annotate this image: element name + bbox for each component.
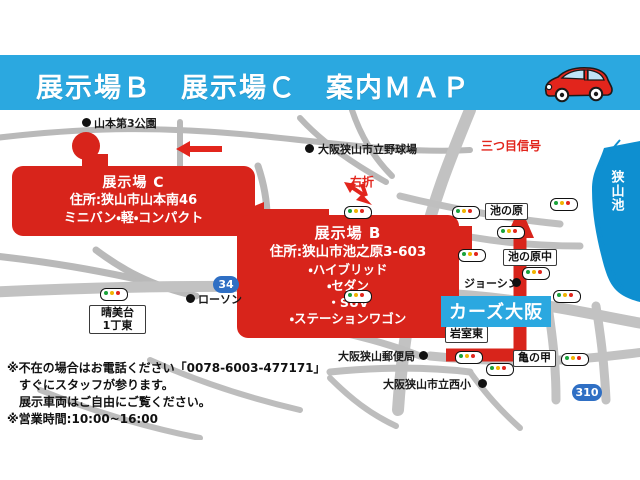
note-line-2: すぐにスタッフが参ります。 bbox=[7, 378, 174, 392]
signal-turn-right bbox=[344, 206, 372, 219]
label-post-office: 大阪狭山郵便局 bbox=[338, 348, 415, 364]
note-line-1: ※不在の場合はお電話ください「0078-6003-477171」 bbox=[7, 361, 326, 375]
note-line-4: ※営業時間:10:00~16:00 bbox=[7, 412, 158, 426]
route-shield-310: 310 bbox=[572, 384, 602, 401]
yamamoto-park-dot bbox=[82, 118, 91, 127]
label-sayama-pond: 狭山池 bbox=[608, 170, 623, 212]
intersection-iwamurohigashi: 岩室東 bbox=[445, 326, 488, 343]
signal-kamenoko bbox=[561, 353, 589, 366]
lawson-dot bbox=[186, 294, 195, 303]
signal-center bbox=[344, 290, 372, 303]
shop-name-box: カーズ大阪 bbox=[441, 296, 551, 327]
red-car-icon bbox=[538, 62, 616, 104]
page-title: 展示場Ｂ 展示場Ｃ 案内ＭＡＰ bbox=[36, 66, 471, 105]
signal-iwamurohigashi bbox=[486, 363, 514, 376]
harumidai-line1: 晴美台 bbox=[101, 306, 134, 319]
callout-c-title: 展示場 C bbox=[18, 174, 249, 192]
route-shield-34: 34 bbox=[213, 276, 239, 293]
signal-right-lower bbox=[553, 290, 581, 303]
note-line-3: 展示車両はご自由にご覧ください。 bbox=[7, 395, 211, 409]
label-yamamoto-park: 山本第3公園 bbox=[94, 115, 157, 131]
label-joshin: ジョーシン bbox=[464, 275, 519, 291]
footer-notes: ※不在の場合はお電話ください「0078-6003-477171」 すぐにスタッフ… bbox=[7, 360, 337, 428]
note-third-signal: 三つ目信号 bbox=[481, 137, 541, 154]
joshin-dot bbox=[512, 278, 521, 287]
signal-post-office bbox=[455, 351, 483, 364]
label-baseball-field: 大阪狭山市立野球場 bbox=[318, 141, 417, 157]
harumidai-line2: 1丁東 bbox=[103, 319, 133, 332]
intersection-ikenoharanaka: 池の原中 bbox=[503, 249, 557, 266]
callout-c-categories: ミニバン・軽・コンパクト bbox=[18, 210, 249, 227]
callout-b-item-3: ・ステーションワゴン bbox=[243, 311, 453, 328]
signal-ikenohara bbox=[497, 226, 525, 239]
signal-harumidai bbox=[100, 288, 128, 301]
label-lawson: ローソン bbox=[198, 291, 242, 307]
callout-tenjijou-b: 展示場 B 住所:狭山市池之原3-603 ・ハイブリッド ・セダン ・SUV ・… bbox=[237, 215, 459, 338]
signal-upper-right bbox=[550, 198, 578, 211]
callout-b-title: 展示場 B bbox=[243, 224, 453, 244]
callout-b-address: 住所:狭山市池之原3-603 bbox=[243, 244, 453, 262]
intersection-ikenohara: 池の原 bbox=[485, 203, 528, 220]
baseball-field-dot bbox=[305, 144, 314, 153]
intersection-harumidai: 晴美台1丁東 bbox=[89, 305, 146, 334]
signal-ikenoharanaka bbox=[522, 267, 550, 280]
signal-b-entry bbox=[452, 206, 480, 219]
callout-b-item-0: ・ハイブリッド bbox=[243, 262, 453, 279]
callout-c-address: 住所:狭山市山本南46 bbox=[18, 192, 249, 209]
map-flyer: 展示場Ｂ 展示場Ｃ 案内ＭＡＰ bbox=[0, 0, 640, 480]
intersection-kamenoko: 亀の甲 bbox=[513, 350, 556, 367]
nishi-shougakkou-dot bbox=[478, 379, 487, 388]
post-office-dot bbox=[419, 351, 428, 360]
callout-tenjijou-c: 展示場 C 住所:狭山市山本南46 ミニバン・軽・コンパクト bbox=[12, 166, 255, 236]
label-nishi-shougakkou: 大阪狭山市立西小 bbox=[383, 376, 471, 392]
note-turn-right: 右折 bbox=[350, 173, 374, 190]
signal-ikenohara-west bbox=[458, 249, 486, 262]
